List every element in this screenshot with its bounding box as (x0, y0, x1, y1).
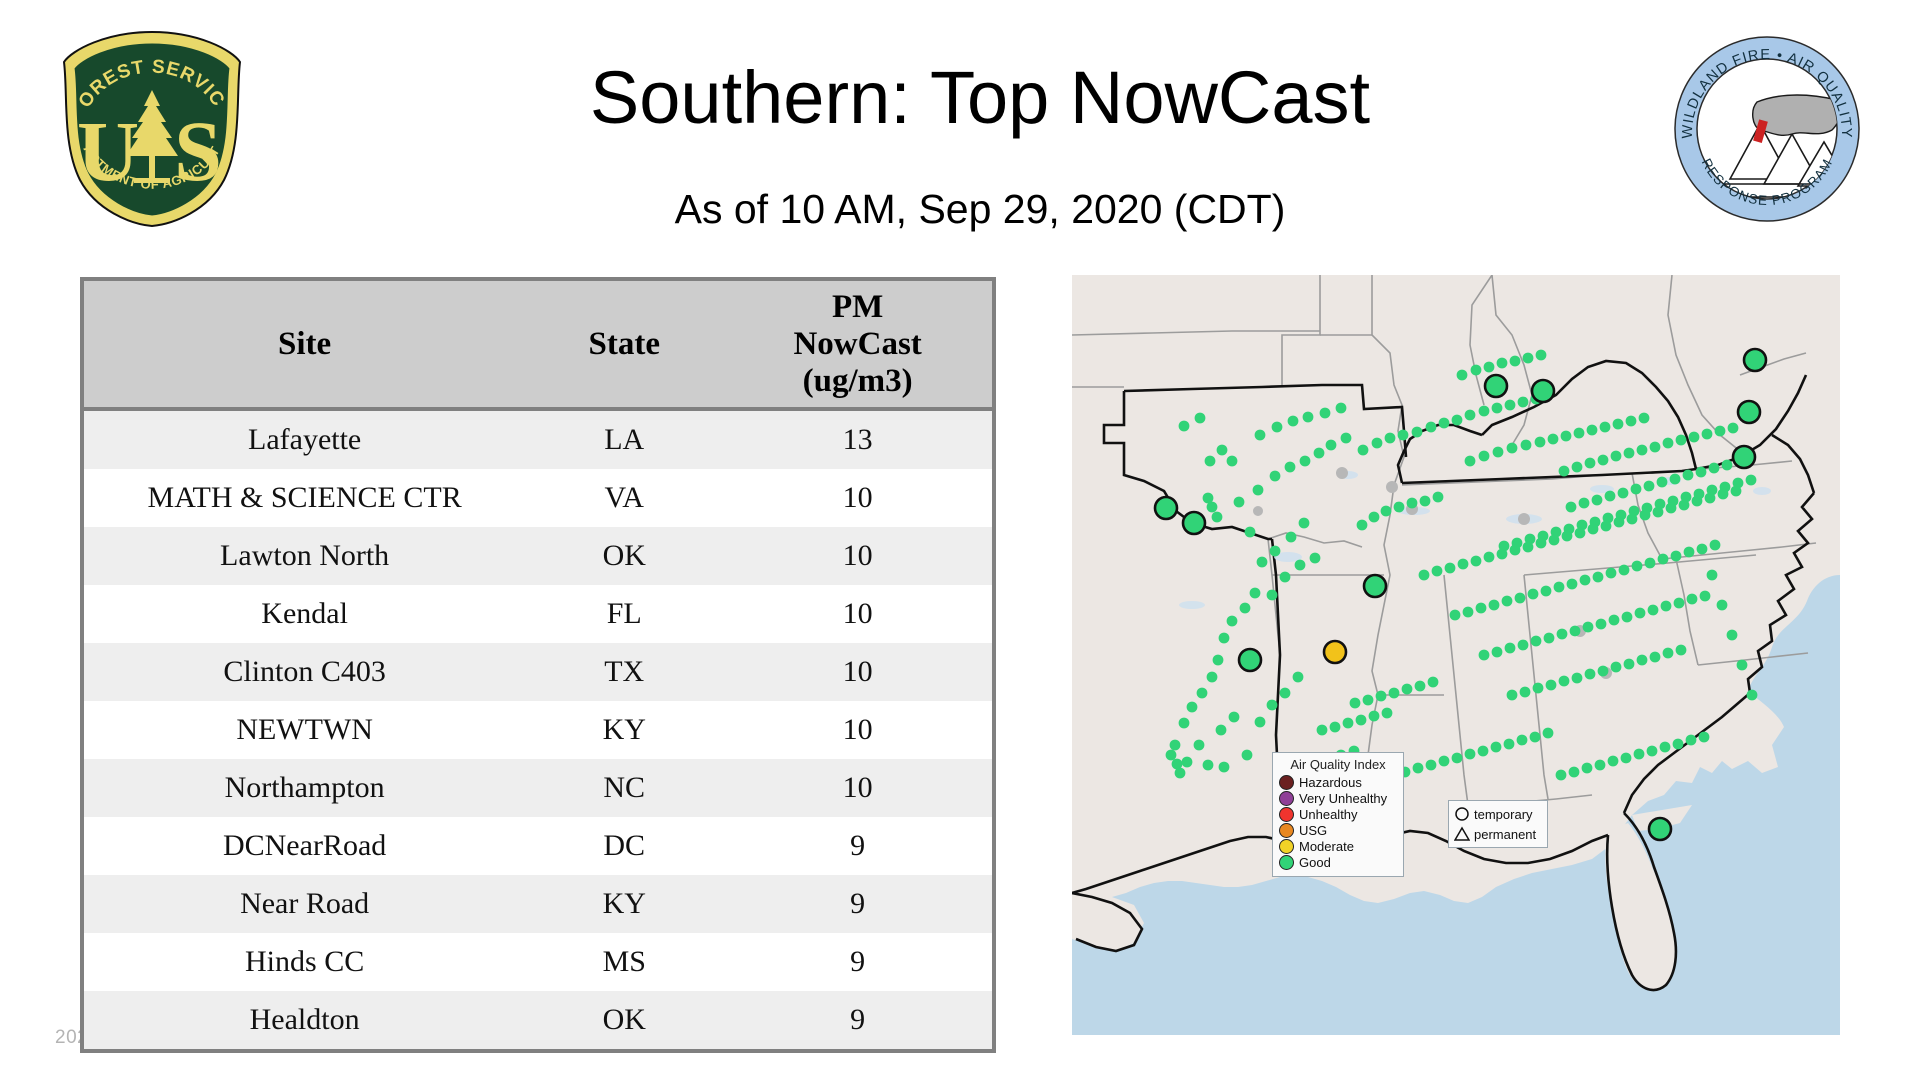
monitor-dot (1543, 728, 1554, 739)
legend-swatch-icon (1279, 775, 1294, 790)
table-row: LafayetteLA13 (84, 409, 992, 469)
monitor-dot (1569, 767, 1580, 778)
monitor-dot (1624, 448, 1635, 459)
monitor-dot (1709, 463, 1720, 474)
monitor-dot (1705, 493, 1716, 504)
monitor-dot (1303, 412, 1314, 423)
monitor-dot (1710, 540, 1721, 551)
monitor-dot (1601, 521, 1612, 532)
monitor-dot (1679, 500, 1690, 511)
legend-item: USG (1279, 823, 1397, 838)
monitor-dot (1687, 594, 1698, 605)
monitor-dot (1194, 740, 1205, 751)
highlighted-site-marker[interactable] (1744, 349, 1766, 371)
monitor-dot (1357, 520, 1368, 531)
monitor-dot (1255, 717, 1266, 728)
monitor-dot (1624, 659, 1635, 670)
monitor-dot (1580, 575, 1591, 586)
monitor-dot (1674, 598, 1685, 609)
monitor-dot (1634, 749, 1645, 760)
monitor-dot (1640, 510, 1651, 521)
monitor-dot (1212, 512, 1223, 523)
monitor-dot (1567, 579, 1578, 590)
table-cell-pm: 9 (723, 991, 992, 1049)
usfs-shield-logo: FOREST SERVICE DEPARTMENT OF AGRICULTURE… (56, 28, 248, 228)
monitor-dot (1402, 684, 1413, 695)
monitor-dot (1595, 760, 1606, 771)
monitor-dot (1660, 742, 1671, 753)
monitor-dot (1242, 750, 1253, 761)
legend-item: Unhealthy (1279, 807, 1397, 822)
highlighted-site-marker[interactable] (1239, 649, 1261, 671)
monitor-dot (1528, 589, 1539, 600)
monitor-dot (1686, 735, 1697, 746)
monitor-dot (1330, 722, 1341, 733)
monitor-dot (1250, 588, 1261, 599)
monitor-dot (1326, 440, 1337, 451)
monitor-dot (1592, 495, 1603, 506)
monitor-dot (1747, 690, 1758, 701)
monitor-dot (1645, 558, 1656, 569)
monitor-dot (1544, 633, 1555, 644)
monitor-dot (1471, 365, 1482, 376)
monitor-dot (1450, 610, 1461, 621)
monitor-dot (1372, 438, 1383, 449)
monitor-dot (1433, 492, 1444, 503)
column-header-pm-line2: NowCast (727, 326, 988, 363)
monitor-dot (1661, 601, 1672, 612)
highlighted-site-marker[interactable] (1324, 641, 1346, 663)
monitor-type-legend: temporary permanent (1448, 800, 1548, 848)
monitor-dot (1583, 622, 1594, 633)
monitor-dot (1510, 545, 1521, 556)
monitor-dot (1637, 445, 1648, 456)
monitor-dot (1412, 427, 1423, 438)
monitor-dot (1398, 430, 1409, 441)
monitor-dot (1255, 430, 1266, 441)
monitor-dot (1341, 433, 1352, 444)
legend-permanent-label: permanent (1474, 827, 1536, 842)
table-cell-pm: 9 (723, 875, 992, 933)
table-cell-state: VA (525, 469, 723, 527)
table-row: NorthamptonNC10 (84, 759, 992, 817)
legend-swatch-icon (1279, 791, 1294, 806)
monitor-dot (1407, 498, 1418, 509)
monitor-dot (1267, 700, 1278, 711)
table-cell-pm: 9 (723, 933, 992, 991)
monitor-dot (1288, 416, 1299, 427)
monitor-dot (1619, 565, 1630, 576)
monitor-dot (1546, 680, 1557, 691)
monitor-dot (1626, 416, 1637, 427)
monitor-dot (1439, 418, 1450, 429)
monitor-dot (1559, 466, 1570, 477)
monitor-dot (1530, 732, 1541, 743)
table-cell-pm: 10 (723, 701, 992, 759)
monitor-dot (1533, 683, 1544, 694)
monitor-dot (1428, 677, 1439, 688)
monitor-dot (1676, 645, 1687, 656)
monitor-dot (1582, 763, 1593, 774)
monitor-dot (1658, 554, 1669, 565)
monitor-dot (1676, 435, 1687, 446)
legend-item: Very Unhealthy (1279, 791, 1397, 806)
monitor-dot (1489, 600, 1500, 611)
monitor-dot (1502, 596, 1513, 607)
table-cell-site: MATH & SCIENCE CTR (84, 469, 525, 527)
monitor-dot (1458, 559, 1469, 570)
monitor-dot (1310, 553, 1321, 564)
monitor-dot (1350, 698, 1361, 709)
monitor-dot (1432, 566, 1443, 577)
legend-item: Moderate (1279, 839, 1397, 854)
southern-region-monitor-map[interactable] (1072, 275, 1840, 1035)
page-title: Southern: Top NowCast (300, 56, 1660, 140)
monitor-dot (1697, 544, 1708, 555)
monitor-dot (1280, 572, 1291, 583)
legend-title: Air Quality Index (1279, 757, 1397, 772)
monitor-dot (1609, 615, 1620, 626)
table-cell-pm: 13 (723, 409, 992, 469)
table-cell-site: Northampton (84, 759, 525, 817)
monitor-dot (1394, 502, 1405, 513)
table-cell-site: Lawton North (84, 527, 525, 585)
monitor-dot (1166, 750, 1177, 761)
monitor-dot (1507, 690, 1518, 701)
monitor-dot (1593, 572, 1604, 583)
table-cell-site: Near Road (84, 875, 525, 933)
legend-item-label: Hazardous (1299, 776, 1362, 790)
legend-temporary-label: temporary (1474, 807, 1533, 822)
monitor-dot (1663, 648, 1674, 659)
monitor-dot (1536, 538, 1547, 549)
monitor-dot (1598, 455, 1609, 466)
monitor-dot (1523, 542, 1534, 553)
wildland-fire-air-quality-logo: WILDLAND FIRE • AIR QUALITY RESPONSE PRO… (1672, 34, 1862, 224)
monitor-dot (1170, 740, 1181, 751)
monitor-dot (1627, 514, 1638, 525)
monitor-dot (1510, 356, 1521, 367)
monitor-dot (1588, 524, 1599, 535)
monitor-dot (1413, 763, 1424, 774)
monitor-dot (1635, 608, 1646, 619)
monitor-dot (1336, 403, 1347, 414)
monitor-dot (1717, 600, 1728, 611)
monitor-dot (1203, 760, 1214, 771)
legend-item-label: Very Unhealthy (1299, 792, 1387, 806)
monitor-dot (1452, 415, 1463, 426)
monitor-dot (1572, 673, 1583, 684)
table-row: Near RoadKY9 (84, 875, 992, 933)
monitor-dot (1556, 770, 1567, 781)
monitor-dot (1666, 503, 1677, 514)
monitor-dot (1518, 640, 1529, 651)
temporary-circle-icon (1454, 806, 1470, 823)
monitor-dot (1245, 527, 1256, 538)
monitor-dot (1621, 753, 1632, 764)
table-cell-state: FL (525, 585, 723, 643)
monitor-dot (1536, 350, 1547, 361)
monitor-dot (1700, 591, 1711, 602)
monitor-dot (1187, 702, 1198, 713)
monitor-dot (1381, 506, 1392, 517)
monitor-dot (1585, 458, 1596, 469)
monitor-dot (1227, 616, 1238, 627)
monitor-dot (1299, 518, 1310, 529)
monitor-dot (1671, 551, 1682, 562)
monitor-dot (1611, 662, 1622, 673)
monitor-dot (1702, 429, 1713, 440)
monitor-dot (1497, 549, 1508, 560)
monitor-dot (1457, 370, 1468, 381)
monitor-dot (1182, 757, 1193, 768)
monitor-dot (1521, 440, 1532, 451)
monitor-dot (1518, 397, 1529, 408)
legend-item-label: Good (1299, 856, 1331, 870)
monitor-dot (1179, 421, 1190, 432)
monitor-dot (1476, 603, 1487, 614)
monitor-dot (1663, 438, 1674, 449)
air-quality-index-legend: Air Quality Index HazardousVery Unhealth… (1272, 752, 1404, 877)
highlighted-site-marker[interactable] (1733, 446, 1755, 468)
monitor-dot (1575, 528, 1586, 539)
table-row: DCNearRoadDC9 (84, 817, 992, 875)
legend-swatch-icon (1279, 823, 1294, 838)
monitor-dot (1728, 423, 1739, 434)
monitor-dot (1300, 456, 1311, 467)
table-row: NEWTWNKY10 (84, 701, 992, 759)
table-cell-site: NEWTWN (84, 701, 525, 759)
monitor-dot (1219, 762, 1230, 773)
monitor-dot (1492, 403, 1503, 414)
monitor-dot (1579, 498, 1590, 509)
monitor-dot (1746, 475, 1757, 486)
legend-item-label: USG (1299, 824, 1327, 838)
monitor-dot (1650, 442, 1661, 453)
highlighted-site-marker[interactable] (1364, 575, 1386, 597)
monitor-dot (1205, 456, 1216, 467)
monitor-dot (1504, 739, 1515, 750)
monitor-dot (1520, 687, 1531, 698)
legend-swatch-icon (1279, 855, 1294, 870)
monitor-dot (1314, 448, 1325, 459)
monitor-dot (1358, 445, 1369, 456)
monitor-dot (1644, 481, 1655, 492)
monitor-dot (1175, 768, 1186, 779)
monitor-dot (1415, 681, 1426, 692)
monitor-dot (1389, 688, 1400, 699)
table-row: MATH & SCIENCE CTRVA10 (84, 469, 992, 527)
table-cell-pm: 10 (723, 585, 992, 643)
monitor-dot (1515, 593, 1526, 604)
page-subtitle: As of 10 AM, Sep 29, 2020 (CDT) (300, 185, 1660, 233)
monitor-dot (1606, 568, 1617, 579)
monitor-dot (1234, 497, 1245, 508)
monitor-dot (1270, 471, 1281, 482)
table-cell-site: Kendal (84, 585, 525, 643)
monitor-dot (1505, 400, 1516, 411)
highlighted-site-marker[interactable] (1485, 375, 1507, 397)
monitor-dot (1572, 462, 1583, 473)
table-row: Lawton NorthOK10 (84, 527, 992, 585)
top-nowcast-table: Site State PM NowCast (ug/m3) LafayetteL… (80, 277, 996, 1053)
legend-item: Good (1279, 855, 1397, 870)
monitor-dot (1653, 507, 1664, 518)
monitor-dot (1471, 556, 1482, 567)
monitor-dot (1548, 434, 1559, 445)
monitor-dot (1452, 753, 1463, 764)
table-row: KendalFL10 (84, 585, 992, 643)
monitor-dot (1531, 636, 1542, 647)
monitor-dot (1639, 413, 1650, 424)
monitor-dot (1382, 708, 1393, 719)
monitor-dot (1445, 563, 1456, 574)
table-cell-state: OK (525, 527, 723, 585)
legend-swatch-icon (1279, 807, 1294, 822)
monitor-dot (1557, 629, 1568, 640)
monitor-dot (1280, 688, 1291, 699)
legend-item-label: Unhealthy (1299, 808, 1358, 822)
table-row: HealdtonOK9 (84, 991, 992, 1049)
table-cell-site: Lafayette (84, 409, 525, 469)
monitor-dot (1369, 512, 1380, 523)
monitor-dot (1479, 451, 1490, 462)
monitor-dot (1657, 477, 1668, 488)
monitor-dot (1505, 643, 1516, 654)
monitor-dot (1257, 557, 1268, 568)
legend-item: Hazardous (1279, 775, 1397, 790)
monitor-dot (1670, 474, 1681, 485)
monitor-dot (1598, 666, 1609, 677)
monitor-dot (1689, 432, 1700, 443)
column-header-state: State (525, 281, 723, 409)
monitor-dot (1683, 470, 1694, 481)
highlighted-site-marker[interactable] (1532, 380, 1554, 402)
monitor-dot (1618, 488, 1629, 499)
monitor-dot (1722, 460, 1733, 471)
monitor-dot (1484, 362, 1495, 373)
monitor-dot (1535, 437, 1546, 448)
monitor-dot (1622, 612, 1633, 623)
monitor-dot (1197, 688, 1208, 699)
monitor-dot (1632, 561, 1643, 572)
monitor-dot (1673, 739, 1684, 750)
highlighted-site-marker[interactable] (1183, 512, 1205, 534)
monitor-dot (1217, 445, 1228, 456)
monitor-dot (1207, 502, 1218, 513)
monitor-dot (1574, 428, 1585, 439)
monitor-dot (1737, 660, 1748, 671)
table-cell-state: NC (525, 759, 723, 817)
monitor-dot (1213, 655, 1224, 666)
monitor-dot (1369, 711, 1380, 722)
monitor-dot (1426, 422, 1437, 433)
monitor-dot (1285, 462, 1296, 473)
monitor-dot (1320, 408, 1331, 419)
monitor-dot (1650, 652, 1661, 663)
monitor-dot (1559, 676, 1570, 687)
monitor-dot (1195, 413, 1206, 424)
table-cell-site: Hinds CC (84, 933, 525, 991)
monitor-dot (1293, 672, 1304, 683)
monitor-dot (1240, 603, 1251, 614)
monitor-dot (1465, 456, 1476, 467)
monitor-dot (1611, 451, 1622, 462)
monitor-dot (1343, 718, 1354, 729)
monitor-dot (1727, 630, 1738, 641)
highlighted-site-marker[interactable] (1738, 401, 1760, 423)
monitor-dot (1420, 496, 1431, 507)
monitor-dot (1587, 425, 1598, 436)
table-header-row: Site State PM NowCast (ug/m3) (84, 281, 992, 409)
monitor-dot (1419, 570, 1430, 581)
monitor-dot (1596, 619, 1607, 630)
legend-temporary-row: temporary (1454, 804, 1542, 824)
monitor-dot (1317, 725, 1328, 736)
monitor-dot (1465, 410, 1476, 421)
table-cell-state: OK (525, 991, 723, 1049)
monitor-dot (1549, 535, 1560, 546)
monitor-dot (1426, 760, 1437, 771)
monitor-dot (1648, 605, 1659, 616)
monitor-dot (1376, 691, 1387, 702)
table-cell-pm: 9 (723, 817, 992, 875)
table-cell-state: DC (525, 817, 723, 875)
monitor-dot (1465, 749, 1476, 760)
monitor-dot (1363, 695, 1374, 706)
table-cell-pm: 10 (723, 527, 992, 585)
table-cell-pm: 10 (723, 469, 992, 527)
monitor-dot (1356, 715, 1367, 726)
monitor-dot (1647, 746, 1658, 757)
monitor-dot (1613, 419, 1624, 430)
monitor-dot (1478, 746, 1489, 757)
monitor-dot (1484, 552, 1495, 563)
table-cell-state: LA (525, 409, 723, 469)
monitor-dot (1270, 546, 1281, 557)
column-header-site: Site (84, 281, 525, 409)
monitor-dot (1718, 489, 1729, 500)
monitor-dot (1562, 531, 1573, 542)
monitor-dot (1295, 560, 1306, 571)
monitor-dot (1439, 756, 1450, 767)
monitor-dot (1492, 647, 1503, 658)
monitor-dot (1631, 484, 1642, 495)
monitor-dot (1637, 655, 1648, 666)
monitor-dot (1614, 517, 1625, 528)
monitor-dot (1570, 626, 1581, 637)
monitor-dot (1267, 590, 1278, 601)
monitor-dot (1385, 433, 1396, 444)
monitor-dot (1696, 467, 1707, 478)
monitor-dot (1699, 732, 1710, 743)
legend-permanent-row: permanent (1454, 824, 1542, 844)
column-header-pm-nowcast: PM NowCast (ug/m3) (723, 281, 992, 409)
table-cell-state: KY (525, 701, 723, 759)
monitor-dot (1731, 486, 1742, 497)
legend-item-label: Moderate (1299, 840, 1354, 854)
highlighted-site-marker[interactable] (1155, 497, 1177, 519)
monitor-dot (1497, 358, 1508, 369)
column-header-pm-line3: (ug/m3) (727, 363, 988, 400)
monitor-dot (1684, 547, 1695, 558)
svg-text:S: S (174, 103, 222, 199)
monitor-dot (1707, 570, 1718, 581)
highlighted-site-marker[interactable] (1649, 818, 1671, 840)
table-cell-pm: 10 (723, 759, 992, 817)
monitor-dot (1227, 456, 1238, 467)
monitor-dot (1517, 735, 1528, 746)
